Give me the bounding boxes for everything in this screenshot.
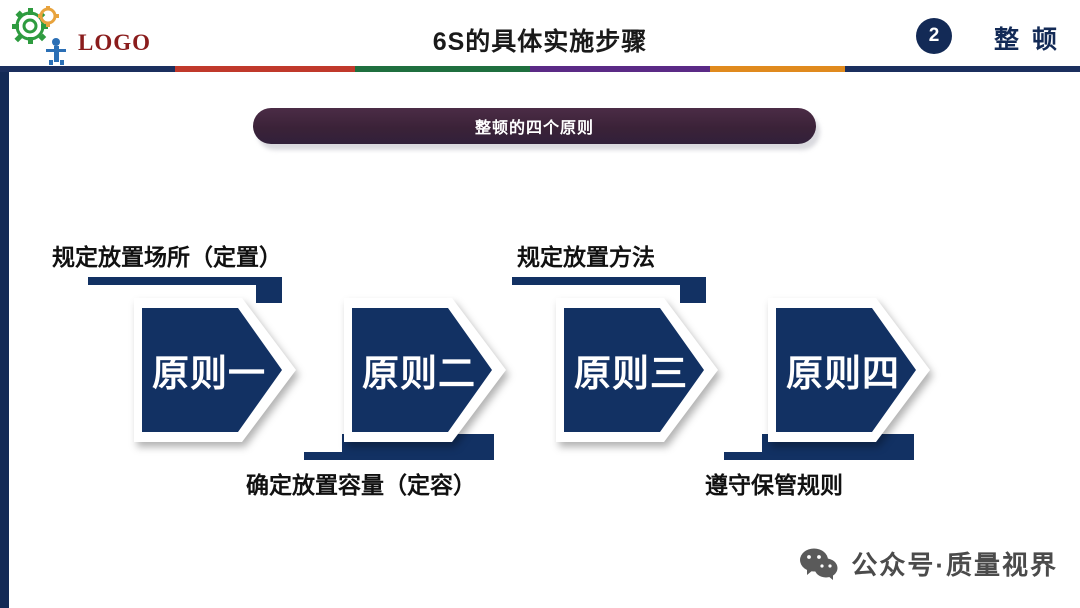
watermark-text: 公众号·质量视界 <box>851 545 1058 582</box>
strip-segment-6 <box>845 66 1080 72</box>
arrow-block-3[interactable]: 原则三 <box>552 294 722 446</box>
strip-segment-1 <box>0 66 175 72</box>
watermark: 公众号·质量视界 <box>799 545 1058 582</box>
left-accent-bar <box>0 72 9 608</box>
arrow-label-3: 原则三 <box>566 294 696 446</box>
arrow-label-1: 原则一 <box>144 294 274 446</box>
arrow-label-2: 原则二 <box>354 294 484 446</box>
arrow-caption-2: 确定放置容量（定容） <box>246 466 476 500</box>
slide-header: LOGO 6S的具体实施步骤 2 整 顿 <box>0 0 1080 72</box>
step-number-badge: 2 <box>916 18 952 54</box>
arrow-block-1[interactable]: 原则一 <box>130 294 300 446</box>
strip-segment-4 <box>530 66 710 72</box>
strip-segment-3 <box>355 66 530 72</box>
arrow-caption-4: 遵守保管规则 <box>705 466 843 500</box>
section-title-pill: 整顿的四个原则 <box>253 108 816 146</box>
section-name: 整 顿 <box>994 20 1060 56</box>
pill-label: 整顿的四个原则 <box>253 108 816 144</box>
arrow-label-4: 原则四 <box>778 294 908 446</box>
arrow-block-4[interactable]: 原则四 <box>764 294 934 446</box>
arrow-block-2[interactable]: 原则二 <box>340 294 510 446</box>
arrow-caption-3: 规定放置方法 <box>517 238 655 272</box>
strip-segment-2 <box>175 66 355 72</box>
wechat-icon <box>799 547 839 581</box>
strip-segment-5 <box>710 66 845 72</box>
arrow-caption-1: 规定放置场所（定置） <box>52 238 282 272</box>
slide-root: LOGO 6S的具体实施步骤 2 整 顿 整顿的四个原则 <box>0 0 1080 608</box>
